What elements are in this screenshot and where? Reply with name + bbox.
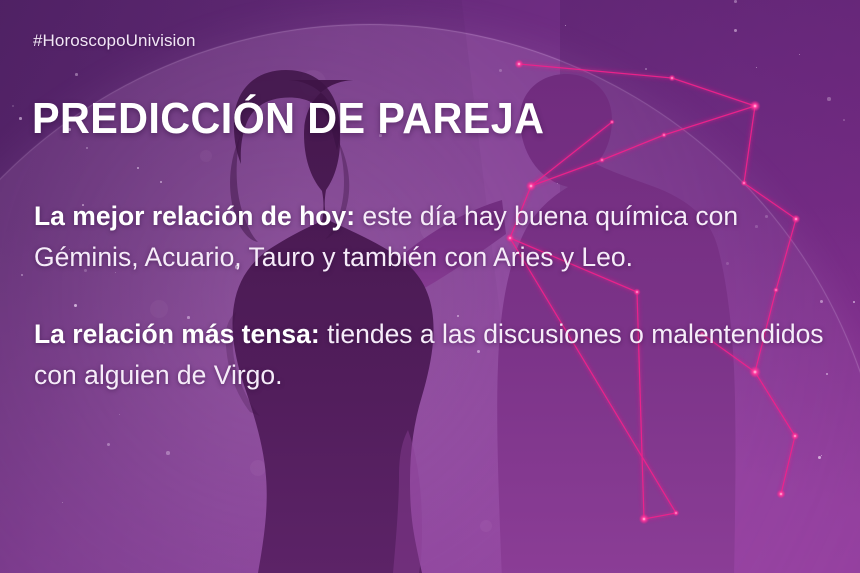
prediction-paragraph-1: La mejor relación de hoy: este día hay b… bbox=[34, 196, 824, 278]
paragraph-spacer bbox=[34, 278, 824, 314]
prediction-lead-2: La relación más tensa: bbox=[34, 319, 320, 349]
page-title: PREDICCIÓN DE PAREJA bbox=[32, 93, 544, 145]
prediction-body: La mejor relación de hoy: este día hay b… bbox=[34, 196, 824, 396]
prediction-lead-1: La mejor relación de hoy: bbox=[34, 201, 355, 231]
prediction-paragraph-2: La relación más tensa: tiendes a las dis… bbox=[34, 314, 824, 396]
horoscope-card: #HoroscopoUnivision PREDICCIÓN DE PAREJA… bbox=[0, 0, 860, 573]
hashtag-label: #HoroscopoUnivision bbox=[33, 31, 196, 51]
